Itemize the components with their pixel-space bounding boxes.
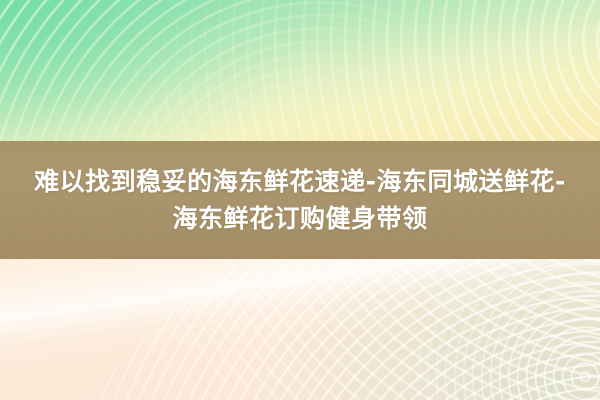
promo-banner: 难以找到稳妥的海东鲜花速递-海东同城送鲜花- 海东鲜花订购健身带领 — [0, 0, 600, 400]
page-title: 难以找到稳妥的海东鲜花速递-海东同城送鲜花- 海东鲜花订购健身带领 — [0, 141, 600, 259]
page-title-line-1: 难以找到稳妥的海东鲜花速递-海东同城送鲜花- — [34, 165, 566, 198]
title-band: 难以找到稳妥的海东鲜花速递-海东同城送鲜花- 海东鲜花订购健身带领 — [0, 141, 600, 259]
page-title-line-2: 海东鲜花订购健身带领 — [172, 202, 427, 235]
